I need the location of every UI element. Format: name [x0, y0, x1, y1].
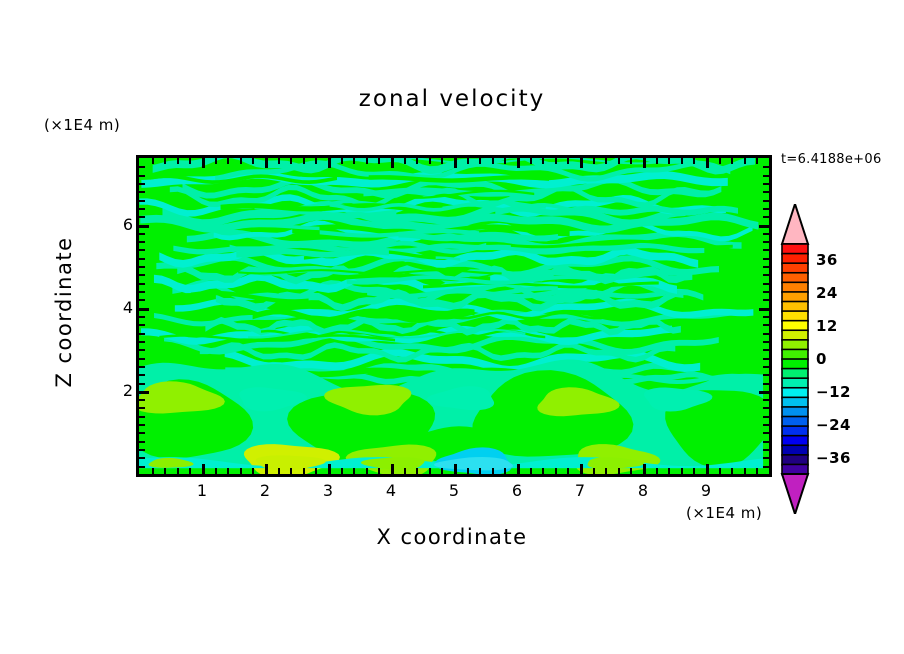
x-tick-label: 3: [313, 481, 343, 500]
y-minor-tick: [139, 208, 145, 210]
y-major-tick: [759, 391, 769, 394]
colorbar-band: [782, 244, 808, 254]
x-axis-unit-label: (×1E4 m): [686, 504, 762, 522]
timestamp-annotation: t=6.4188e+06: [781, 152, 882, 167]
y-minor-tick: [139, 349, 145, 351]
y-minor-tick: [763, 432, 769, 434]
x-minor-tick: [240, 158, 242, 164]
x-major-tick: [328, 464, 331, 474]
y-tick-label: 6: [111, 215, 133, 234]
x-minor-tick: [479, 468, 481, 474]
x-minor-tick: [366, 158, 368, 164]
x-major-tick: [454, 158, 457, 168]
x-major-tick: [706, 158, 709, 168]
y-minor-tick: [763, 183, 769, 185]
x-minor-tick: [681, 158, 683, 164]
x-major-tick: [517, 464, 520, 474]
colorbar-top-cap: [782, 204, 808, 244]
y-minor-tick: [763, 216, 769, 218]
colorbar-swatches: [778, 204, 812, 514]
y-minor-tick: [763, 283, 769, 285]
colorbar-tick-label: 24: [816, 284, 838, 302]
x-minor-tick: [429, 158, 431, 164]
y-minor-tick: [763, 407, 769, 409]
x-minor-tick: [378, 158, 380, 164]
x-minor-tick: [719, 468, 721, 474]
x-minor-tick: [630, 468, 632, 474]
colorbar-tick-label: −12: [816, 383, 851, 401]
x-tick-label: 5: [439, 481, 469, 500]
y-minor-tick: [763, 249, 769, 251]
y-minor-tick: [763, 349, 769, 351]
x-minor-tick: [618, 158, 620, 164]
x-axis-title: X coordinate: [0, 525, 904, 549]
x-minor-tick: [744, 468, 746, 474]
y-minor-tick: [139, 166, 145, 168]
y-tick-label: 4: [111, 298, 133, 317]
colorbar-band: [782, 407, 808, 417]
x-major-tick: [580, 464, 583, 474]
x-minor-tick: [152, 158, 154, 164]
x-minor-tick: [252, 468, 254, 474]
y-minor-tick: [763, 416, 769, 418]
contour-plot-area: [136, 155, 772, 477]
x-minor-tick: [353, 468, 355, 474]
x-minor-tick: [492, 468, 494, 474]
y-minor-tick: [139, 374, 145, 376]
x-minor-tick: [429, 468, 431, 474]
x-minor-tick: [630, 158, 632, 164]
x-minor-tick: [605, 468, 607, 474]
colorbar-band: [782, 369, 808, 379]
x-major-tick: [202, 464, 205, 474]
x-tick-label: 9: [691, 481, 721, 500]
x-minor-tick: [164, 158, 166, 164]
y-minor-tick: [763, 200, 769, 202]
x-major-tick: [643, 464, 646, 474]
colorbar-tick-label: 12: [816, 317, 838, 335]
y-minor-tick: [763, 299, 769, 301]
x-minor-tick: [404, 158, 406, 164]
x-minor-tick: [290, 158, 292, 164]
y-minor-tick: [763, 208, 769, 210]
x-major-tick: [265, 158, 268, 168]
y-major-tick: [139, 308, 149, 311]
x-major-tick: [391, 158, 394, 168]
y-minor-tick: [139, 249, 145, 251]
contour-field: [139, 158, 769, 474]
y-minor-tick: [139, 407, 145, 409]
x-minor-tick: [278, 158, 280, 164]
colorbar-band: [782, 302, 808, 312]
y-minor-tick: [139, 383, 145, 385]
y-minor-tick: [139, 424, 145, 426]
colorbar-band: [782, 417, 808, 427]
colorbar-band: [782, 436, 808, 446]
x-minor-tick: [731, 158, 733, 164]
x-minor-tick: [479, 158, 481, 164]
y-minor-tick: [763, 291, 769, 293]
x-major-tick: [265, 464, 268, 474]
y-minor-tick: [763, 383, 769, 385]
x-minor-tick: [681, 468, 683, 474]
x-minor-tick: [693, 158, 695, 164]
x-major-tick: [643, 158, 646, 168]
colorbar-band: [782, 282, 808, 292]
y-minor-tick: [139, 216, 145, 218]
y-minor-tick: [763, 441, 769, 443]
colorbar-band: [782, 378, 808, 388]
y-axis-title: Z coordinate: [52, 212, 76, 412]
x-major-tick: [706, 464, 709, 474]
colorbar-band: [782, 426, 808, 436]
x-minor-tick: [441, 158, 443, 164]
y-minor-tick: [763, 266, 769, 268]
x-minor-tick: [555, 468, 557, 474]
x-minor-tick: [252, 158, 254, 164]
x-minor-tick: [504, 158, 506, 164]
y-minor-tick: [139, 466, 145, 468]
x-major-tick: [391, 464, 394, 474]
x-minor-tick: [567, 468, 569, 474]
x-minor-tick: [467, 158, 469, 164]
y-minor-tick: [139, 266, 145, 268]
x-minor-tick: [290, 468, 292, 474]
x-minor-tick: [731, 468, 733, 474]
x-minor-tick: [693, 468, 695, 474]
x-minor-tick: [341, 468, 343, 474]
x-minor-tick: [189, 158, 191, 164]
y-minor-tick: [763, 358, 769, 360]
x-minor-tick: [353, 158, 355, 164]
y-major-tick: [139, 391, 149, 394]
x-major-tick: [454, 464, 457, 474]
y-minor-tick: [763, 316, 769, 318]
y-minor-tick: [763, 324, 769, 326]
x-minor-tick: [416, 158, 418, 164]
y-minor-tick: [763, 374, 769, 376]
colorbar-bottom-cap: [782, 474, 808, 514]
colorbar-tick-label: 0: [816, 350, 827, 368]
colorbar-band: [782, 311, 808, 321]
y-axis-unit-label: (×1E4 m): [44, 116, 120, 134]
x-minor-tick: [530, 468, 532, 474]
x-minor-tick: [744, 158, 746, 164]
x-minor-tick: [416, 468, 418, 474]
y-minor-tick: [763, 366, 769, 368]
y-minor-tick: [139, 358, 145, 360]
x-minor-tick: [164, 468, 166, 474]
y-minor-tick: [763, 333, 769, 335]
x-major-tick: [517, 158, 520, 168]
y-minor-tick: [763, 449, 769, 451]
y-minor-tick: [139, 241, 145, 243]
y-minor-tick: [139, 316, 145, 318]
x-minor-tick: [215, 158, 217, 164]
y-major-tick: [139, 225, 149, 228]
y-minor-tick: [139, 449, 145, 451]
y-minor-tick: [763, 466, 769, 468]
x-minor-tick: [278, 468, 280, 474]
y-minor-tick: [139, 457, 145, 459]
x-minor-tick: [366, 468, 368, 474]
x-minor-tick: [542, 158, 544, 164]
x-minor-tick: [504, 468, 506, 474]
x-minor-tick: [227, 158, 229, 164]
y-minor-tick: [139, 399, 145, 401]
y-minor-tick: [763, 258, 769, 260]
y-minor-tick: [139, 283, 145, 285]
y-minor-tick: [139, 299, 145, 301]
x-minor-tick: [618, 468, 620, 474]
colorbar-band: [782, 445, 808, 455]
y-minor-tick: [763, 341, 769, 343]
colorbar-band: [782, 292, 808, 302]
x-minor-tick: [177, 468, 179, 474]
y-minor-tick: [763, 166, 769, 168]
x-minor-tick: [756, 468, 758, 474]
y-minor-tick: [139, 258, 145, 260]
x-major-tick: [202, 158, 205, 168]
x-tick-label: 4: [376, 481, 406, 500]
colorbar-band: [782, 397, 808, 407]
x-minor-tick: [189, 468, 191, 474]
colorbar-band: [782, 254, 808, 264]
colorbar-tick-label: −36: [816, 449, 851, 467]
x-minor-tick: [492, 158, 494, 164]
x-tick-label: 7: [565, 481, 595, 500]
y-minor-tick: [763, 274, 769, 276]
x-minor-tick: [756, 158, 758, 164]
y-minor-tick: [763, 424, 769, 426]
colorbar-band: [782, 359, 808, 369]
y-minor-tick: [763, 241, 769, 243]
x-minor-tick: [240, 468, 242, 474]
x-minor-tick: [315, 468, 317, 474]
y-minor-tick: [139, 191, 145, 193]
x-minor-tick: [668, 158, 670, 164]
x-minor-tick: [303, 158, 305, 164]
x-minor-tick: [593, 468, 595, 474]
colorbar-band: [782, 455, 808, 465]
y-major-tick: [759, 225, 769, 228]
y-minor-tick: [763, 457, 769, 459]
y-minor-tick: [139, 175, 145, 177]
y-minor-tick: [139, 233, 145, 235]
x-minor-tick: [668, 468, 670, 474]
colorbar-band: [782, 388, 808, 398]
x-minor-tick: [467, 468, 469, 474]
x-minor-tick: [542, 468, 544, 474]
x-minor-tick: [593, 158, 595, 164]
x-major-tick: [328, 158, 331, 168]
x-minor-tick: [152, 468, 154, 474]
x-tick-label: 1: [187, 481, 217, 500]
y-minor-tick: [139, 441, 145, 443]
colorbar-band: [782, 340, 808, 350]
x-minor-tick: [441, 468, 443, 474]
x-tick-label: 2: [250, 481, 280, 500]
y-major-tick: [759, 308, 769, 311]
colorbar-band: [782, 330, 808, 340]
y-tick-label: 2: [111, 381, 133, 400]
y-minor-tick: [763, 233, 769, 235]
y-minor-tick: [139, 291, 145, 293]
y-minor-tick: [139, 341, 145, 343]
x-minor-tick: [341, 158, 343, 164]
x-minor-tick: [177, 158, 179, 164]
colorbar-band: [782, 321, 808, 331]
x-minor-tick: [378, 468, 380, 474]
y-minor-tick: [139, 333, 145, 335]
x-tick-label: 6: [502, 481, 532, 500]
colorbar-band: [782, 349, 808, 359]
colorbar-band: [782, 263, 808, 273]
x-minor-tick: [404, 468, 406, 474]
x-minor-tick: [303, 468, 305, 474]
y-minor-tick: [139, 416, 145, 418]
colorbar-band: [782, 273, 808, 283]
y-minor-tick: [139, 324, 145, 326]
y-minor-tick: [139, 200, 145, 202]
y-minor-tick: [139, 274, 145, 276]
y-minor-tick: [763, 399, 769, 401]
x-minor-tick: [215, 468, 217, 474]
colorbar: 3624120−12−24−36: [778, 204, 904, 514]
x-minor-tick: [227, 468, 229, 474]
x-minor-tick: [555, 158, 557, 164]
y-minor-tick: [139, 366, 145, 368]
x-major-tick: [580, 158, 583, 168]
y-minor-tick: [139, 183, 145, 185]
colorbar-tick-label: −24: [816, 416, 851, 434]
x-minor-tick: [605, 158, 607, 164]
x-minor-tick: [315, 158, 317, 164]
x-minor-tick: [530, 158, 532, 164]
x-minor-tick: [656, 468, 658, 474]
y-minor-tick: [763, 175, 769, 177]
colorbar-tick-label: 36: [816, 251, 838, 269]
x-tick-label: 8: [628, 481, 658, 500]
x-minor-tick: [719, 158, 721, 164]
page-title: zonal velocity: [0, 86, 904, 112]
x-minor-tick: [567, 158, 569, 164]
y-minor-tick: [763, 191, 769, 193]
x-minor-tick: [656, 158, 658, 164]
y-minor-tick: [139, 432, 145, 434]
